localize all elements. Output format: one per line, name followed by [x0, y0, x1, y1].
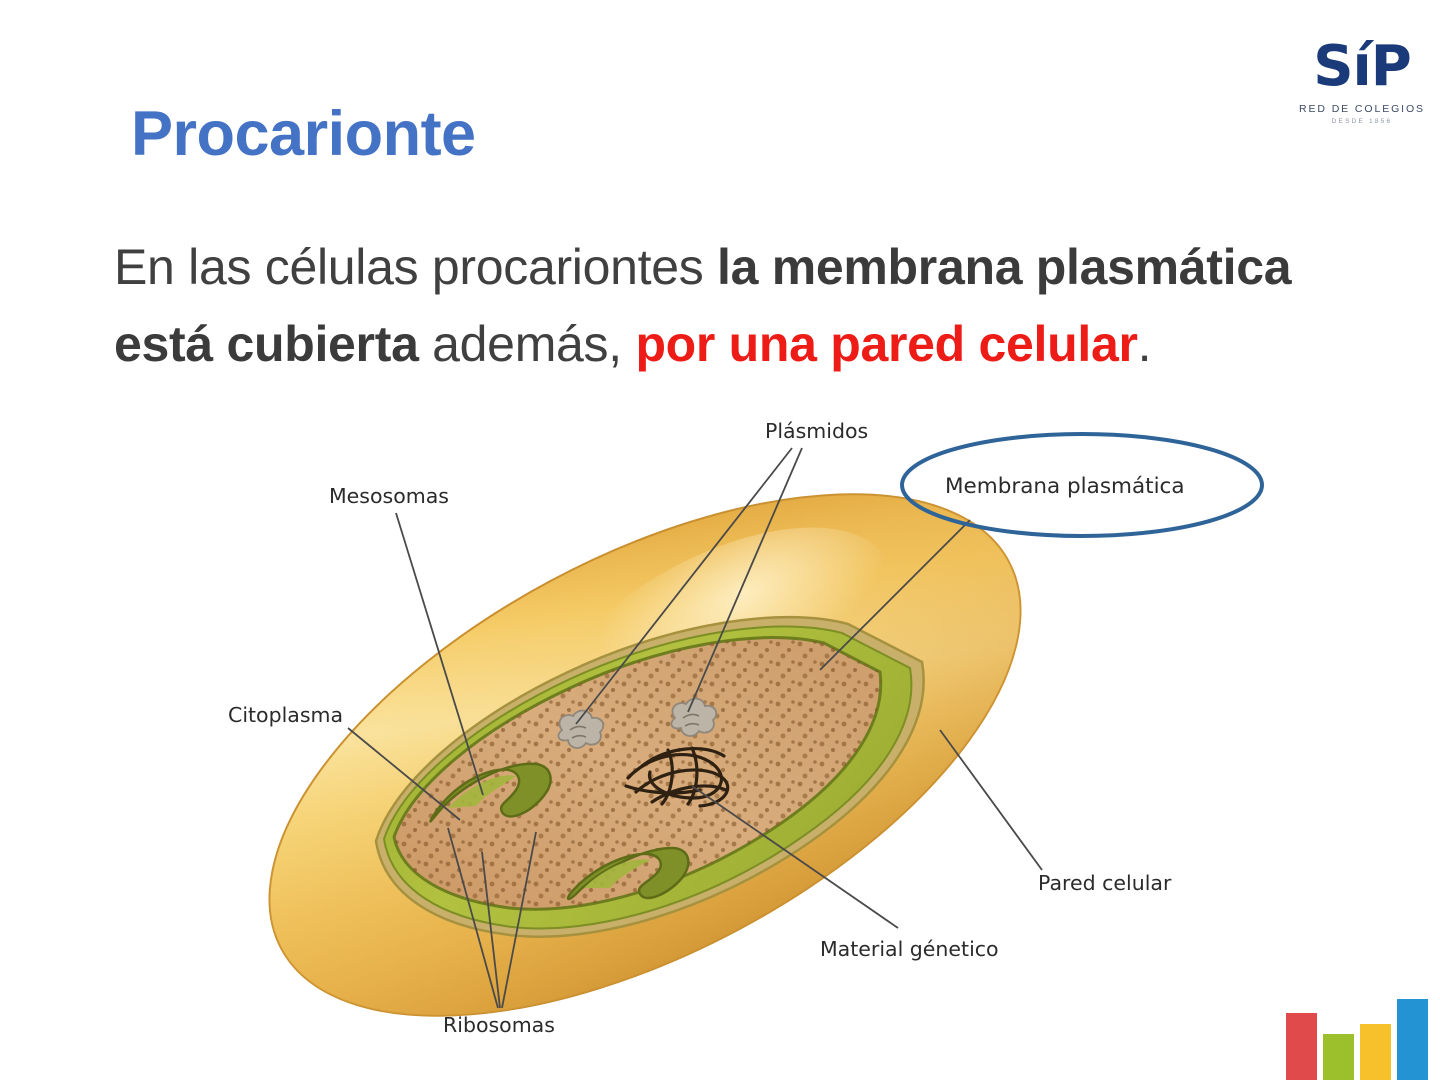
- label-membrana-plasmatica: Membrana plasmática: [945, 474, 1185, 499]
- sip-logo: SíP RED DE COLEGIOS DESDE 1856: [1296, 38, 1428, 138]
- bar-green: [1323, 1034, 1354, 1080]
- label-pared-celular: Pared celular: [1038, 871, 1172, 895]
- logo-since-text: DESDE 1856: [1296, 118, 1428, 125]
- body-segment-red: por una pared celular: [635, 316, 1137, 372]
- body-segment-period: .: [1138, 316, 1152, 372]
- label-material-genetico: Material génetico: [820, 937, 999, 961]
- bar-blue: [1397, 999, 1428, 1080]
- label-citoplasma: Citoplasma: [228, 703, 343, 727]
- bar-yellow: [1360, 1024, 1391, 1080]
- leader-pared: [940, 730, 1042, 870]
- label-ribosomas: Ribosomas: [443, 1013, 555, 1037]
- logo-wordmark: SíP: [1296, 38, 1428, 96]
- label-mesosomas: Mesosomas: [329, 484, 449, 508]
- page-title: Procarionte: [131, 99, 476, 169]
- body-segment-plain-2: además,: [419, 316, 636, 372]
- bar-red: [1286, 1013, 1317, 1080]
- logo-subtitle: RED DE COLEGIOS: [1296, 103, 1428, 115]
- decorative-bar-mark: [1286, 994, 1430, 1080]
- slide-canvas: SíP RED DE COLEGIOS DESDE 1856 Procarion…: [0, 0, 1440, 1080]
- prokaryote-cell-diagram: Mesosomas Citoplasma Plásmidos Membrana …: [180, 400, 1340, 1060]
- label-plasmidos: Plásmidos: [765, 419, 868, 443]
- body-segment-plain-1: En las células procariontes: [114, 239, 717, 295]
- body-paragraph: En las células procariontes la membrana …: [114, 229, 1304, 383]
